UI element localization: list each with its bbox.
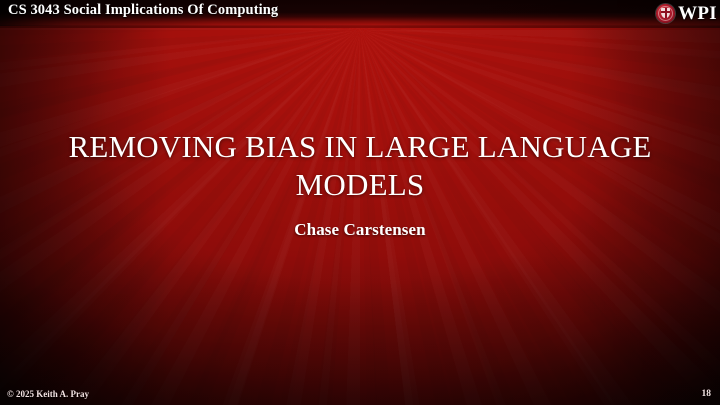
slide-subtitle-author: Chase Carstensen [60, 219, 660, 241]
seal-cross-vertical [665, 8, 667, 18]
footer-page-number: 18 [702, 389, 712, 400]
seal-cross-horizontal [661, 11, 670, 13]
wpi-wordmark: WPI [678, 4, 717, 23]
slide-title: REMOVING BIAS IN LARGE LANGUAGE MODELS [60, 128, 660, 204]
presentation-slide: CS 3043 Social Implications Of Computing… [0, 0, 720, 405]
wpi-logo: WPI [656, 2, 717, 25]
footer-copyright: © 2025 Keith A. Pray [7, 389, 89, 400]
wpi-seal-icon [656, 4, 675, 23]
course-title: CS 3043 Social Implications Of Computing [8, 2, 278, 19]
title-block: REMOVING BIAS IN LARGE LANGUAGE MODELS [60, 128, 660, 204]
header-underline [0, 26, 720, 28]
